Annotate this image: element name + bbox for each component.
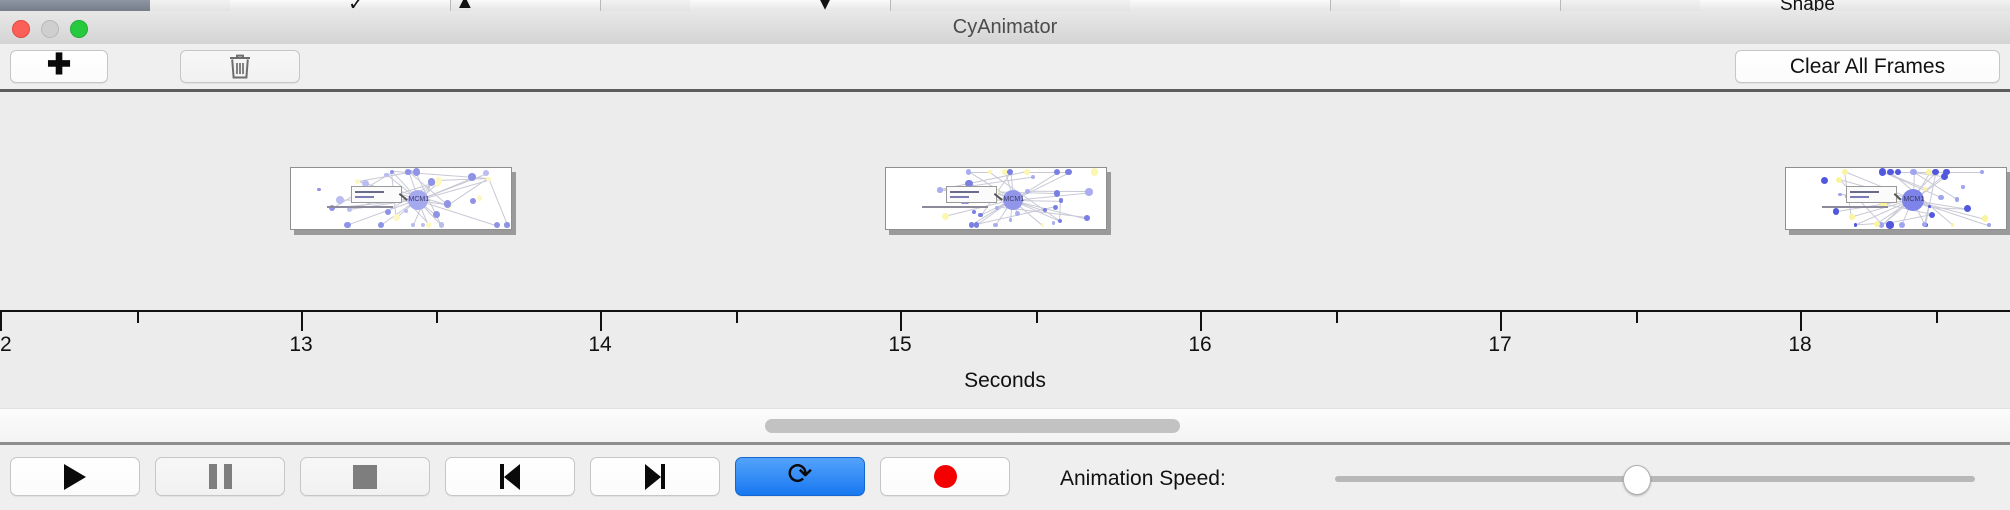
toolbar: ✚ Clear All Frames [0, 44, 2010, 89]
network-node [1951, 223, 1954, 226]
timeline-frame[interactable]: MCM1 [1785, 167, 2007, 230]
play-icon [64, 464, 86, 490]
network-node [1854, 223, 1857, 226]
axis-tick [1636, 312, 1638, 323]
timeline-frame[interactable]: MCM1 [290, 167, 512, 230]
network-node [385, 209, 391, 215]
network-node [1024, 169, 1030, 175]
stop-icon [353, 465, 377, 489]
network-node [1987, 223, 1991, 227]
network-callout [351, 186, 402, 203]
axis-tick-label: 16 [1188, 333, 1211, 357]
axis-tick-label: 17 [1488, 333, 1511, 357]
network-node [470, 198, 476, 204]
network-node [355, 179, 360, 184]
network-node [1059, 198, 1064, 203]
network-node [1842, 169, 1848, 175]
network-node [1964, 205, 1971, 212]
network-node [1910, 169, 1916, 175]
timeline-canvas[interactable]: MCM1MCM1MCM1 [0, 92, 2010, 310]
network-node [494, 222, 500, 228]
network-node [421, 223, 425, 227]
network-node [468, 173, 476, 181]
axis-tick [1936, 312, 1938, 323]
animation-speed-label: Animation Speed: [1060, 467, 1226, 491]
loop-button[interactable]: ⟳ [735, 457, 865, 496]
network-node [405, 169, 411, 175]
axis-tick [736, 312, 738, 323]
network-node [1955, 197, 1959, 201]
network-node [1961, 185, 1964, 188]
timeline-scrollbar-thumb[interactable] [765, 419, 1180, 433]
network-caption [1822, 206, 1889, 208]
network-node [477, 195, 483, 201]
timeline-scrollbar-track[interactable] [0, 408, 2010, 443]
network-node [1009, 218, 1013, 222]
record-button[interactable] [880, 457, 1010, 496]
network-node [404, 209, 408, 213]
network-node [1065, 169, 1071, 175]
network-hub-label: MCM1 [1904, 196, 1925, 203]
background-window-titlebar [0, 0, 150, 11]
network-node [1886, 221, 1893, 228]
network-node [1887, 169, 1894, 176]
loop-icon: ⟳ [787, 460, 812, 490]
transport-bar: ⟳ Animation Speed: [0, 445, 2010, 510]
axis-title: Seconds [0, 369, 2010, 393]
title-bar: CyAnimator [0, 11, 2010, 45]
axis-tick-label: 12 [0, 333, 12, 357]
axis-tick-label: 13 [289, 333, 312, 357]
network-node [439, 222, 444, 227]
network-node [433, 211, 440, 218]
axis-tick [1500, 312, 1502, 331]
background-window-strip: ✓ ▲ ▾ Shape [0, 0, 2010, 11]
delete-frame-button[interactable] [180, 50, 300, 83]
network-node [1053, 205, 1058, 210]
add-frame-button[interactable]: ✚ [10, 50, 108, 83]
network-node [937, 187, 942, 192]
network-node [1879, 168, 1886, 175]
network-callout [946, 186, 997, 203]
axis-tick [436, 312, 438, 323]
network-node [413, 168, 421, 176]
axis-tick-label: 18 [1788, 333, 1811, 357]
clear-all-frames-button[interactable]: Clear All Frames [1735, 50, 2000, 83]
network-hub-label: MCM1 [1004, 196, 1025, 203]
clear-all-frames-label: Clear All Frames [1790, 55, 1945, 79]
network-hub-label: MCM1 [409, 196, 430, 203]
axis-tick [137, 312, 139, 323]
network-node [378, 222, 384, 228]
network-node [1084, 215, 1090, 221]
network-node [435, 177, 443, 185]
background-window-label: Shape [1780, 0, 1835, 11]
plus-icon: ✚ [47, 51, 71, 80]
axis-tick [301, 312, 303, 331]
cyanimator-window: ✓ ▲ ▾ Shape CyAnimator ✚ Clear All Frame… [0, 0, 2010, 510]
stop-button[interactable] [300, 457, 430, 496]
network-caption [922, 206, 989, 208]
timeline-frame[interactable]: MCM1 [885, 167, 1107, 230]
network-node [1015, 211, 1020, 216]
network-node [993, 223, 998, 228]
network-node [1838, 193, 1841, 196]
axis-tick [1336, 312, 1338, 323]
trash-icon [228, 53, 252, 80]
network-node [974, 222, 980, 228]
network-node [942, 213, 949, 220]
skip-backward-button[interactable] [445, 457, 575, 496]
network-node [390, 170, 394, 174]
network-edge [449, 178, 489, 205]
record-icon [934, 465, 957, 488]
network-node [1938, 195, 1944, 201]
network-node [411, 223, 415, 227]
network-node [444, 200, 452, 208]
network-node [1085, 188, 1092, 195]
network-node [1833, 208, 1840, 215]
network-node [1041, 223, 1044, 226]
skip-forward-button[interactable] [590, 457, 720, 496]
skip-backward-icon [500, 464, 520, 490]
axis-tick [600, 312, 602, 331]
network-node [317, 188, 321, 192]
axis-tick-label: 15 [888, 333, 911, 357]
network-node [393, 214, 401, 222]
network-node [483, 170, 489, 176]
network-edge [1027, 172, 1057, 173]
network-node [1980, 170, 1984, 174]
network-node [1932, 169, 1939, 176]
network-node [1895, 169, 1901, 175]
play-button[interactable] [10, 457, 140, 496]
window-title: CyAnimator [0, 11, 2010, 44]
network-node [486, 177, 490, 181]
network-node [972, 210, 976, 214]
network-node [1052, 221, 1055, 224]
network-node [336, 196, 344, 204]
network-callout [1846, 186, 1897, 203]
network-edge [488, 179, 507, 225]
network-node [1929, 212, 1935, 218]
animation-speed-knob[interactable] [1623, 465, 1651, 495]
network-node [1926, 169, 1932, 175]
network-edge [969, 172, 990, 173]
axis-tick [1036, 312, 1038, 323]
network-node [1054, 169, 1060, 175]
network-node [1899, 222, 1905, 228]
network-node [1821, 177, 1828, 184]
axis-tick [900, 312, 902, 331]
pause-button[interactable] [155, 457, 285, 496]
network-node [428, 178, 436, 186]
network-node [1025, 189, 1030, 194]
network-node [1982, 215, 1989, 222]
network-node [1941, 173, 1948, 180]
pause-icon [209, 464, 232, 489]
network-caption [327, 206, 394, 208]
skip-forward-icon [645, 464, 665, 490]
network-node [1874, 221, 1880, 227]
network-node [1091, 168, 1098, 175]
axis-tick [0, 312, 2, 331]
network-edge [1059, 200, 1061, 220]
network-node [504, 222, 509, 227]
network-node [1836, 177, 1842, 183]
network-node [1058, 219, 1062, 223]
axis-tick [1200, 312, 1202, 331]
network-node [1849, 214, 1855, 220]
animation-speed-slider[interactable] [1335, 476, 1975, 482]
network-node [1879, 222, 1885, 228]
axis-tick [1800, 312, 1802, 331]
network-node [344, 222, 350, 228]
axis-tick-label: 14 [588, 333, 611, 357]
network-node [1031, 175, 1035, 179]
network-node [426, 222, 431, 227]
